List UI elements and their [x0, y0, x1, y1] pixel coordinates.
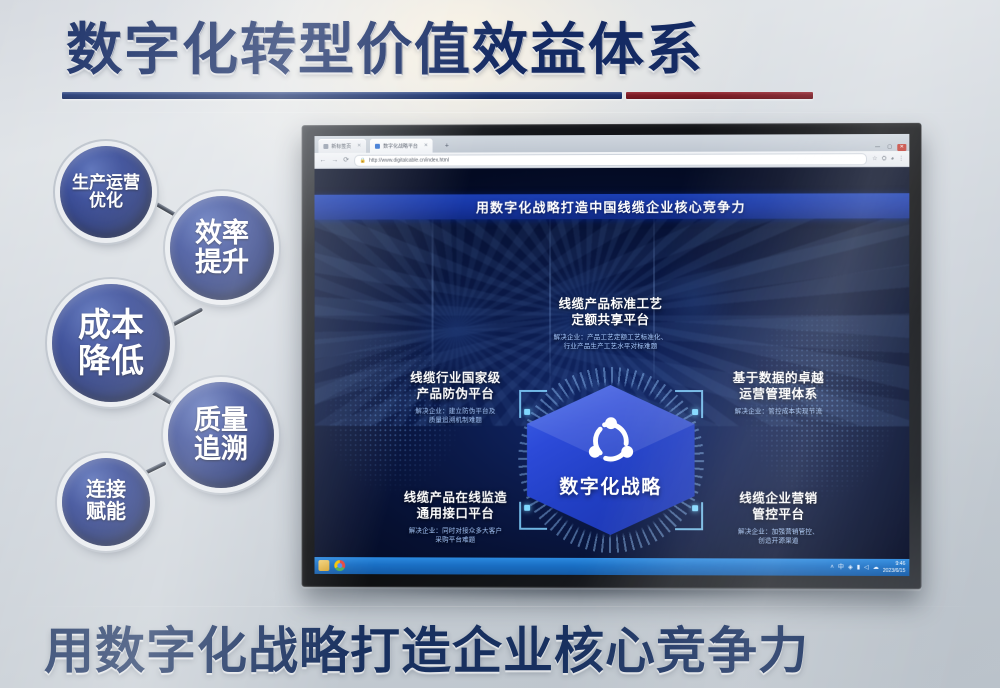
speaker-icon[interactable]: ◁: [864, 564, 869, 570]
slide-banner-title: 用数字化战略打造中国线缆企业核心竞争力: [314, 193, 909, 219]
node-title-line-2: 通用接口平台: [366, 506, 545, 523]
node-subtitle-line-1: 解决企业：加强营销管控、: [688, 527, 869, 537]
wall-seam: [0, 606, 1000, 607]
node-standard-process-platform[interactable]: 线缆产品标准工艺 定额共享平台 解决企业：产品工艺定额工艺标准化、 行业产品生产…: [511, 296, 711, 351]
browser-tab-strip: 新标签页 ✕ 数字化战略平台 ✕ + — ▢ ✕: [314, 134, 909, 153]
wall-seam: [0, 112, 1000, 113]
node-online-supervision-interface[interactable]: 线缆产品在线监造 通用接口平台 解决企业：同时对接众多大客户 采购平台难题: [366, 489, 545, 545]
minimize-button[interactable]: —: [873, 144, 882, 151]
node-subtitle: 解决企业：管控成本实现节流: [688, 407, 869, 417]
chrome-icon[interactable]: [334, 560, 345, 571]
clock-date: 2023/6/15: [883, 567, 905, 573]
node-subtitle-line-1: 解决企业：建立防伪平台及: [366, 406, 545, 416]
ime-icon[interactable]: 中: [838, 564, 844, 570]
bookmark-star-icon[interactable]: ☆: [872, 156, 877, 162]
node-subtitle-line-2: 质量追溯机制难题: [366, 416, 545, 426]
forward-icon[interactable]: →: [331, 157, 338, 164]
taskbar-apps: [318, 560, 345, 571]
windows-taskbar: ˄ 中 ◈ ▮ ◁ ☁ 9:46 2023/6/15: [314, 557, 909, 576]
footer-slogan: 用数字化战略打造企业核心竞争力: [44, 620, 804, 682]
bubble-line-1: 连接: [86, 480, 126, 502]
bubble-efficiency[interactable]: 效率 提升: [170, 196, 274, 300]
toolbar-actions: ☆ ⛭ ◕ ⋮: [872, 156, 904, 162]
wall-monitor: 新标签页 ✕ 数字化战略平台 ✕ + — ▢ ✕: [302, 123, 922, 589]
node-title-line-1: 线缆企业营销: [688, 490, 869, 507]
node-subtitle-line-1: 解决企业：产品工艺定额工艺标准化、: [511, 332, 711, 341]
presentation-slide: 用数字化战略打造中国线缆企业核心竞争力: [314, 167, 909, 576]
node-subtitle-line-2: 行业产品生产工艺水平对标难题: [511, 342, 711, 351]
plus-icon: +: [445, 142, 449, 149]
title-rule-blue: [62, 92, 622, 99]
browser-tab-2[interactable]: 数字化战略平台 ✕: [370, 139, 433, 153]
node-title-line-2: 定额共享平台: [511, 312, 711, 328]
page-title: 数字化转型价值效益体系: [66, 14, 796, 86]
favicon-icon: [375, 143, 380, 148]
monitor-screen: 新标签页 ✕ 数字化战略平台 ✕ + — ▢ ✕: [314, 134, 909, 576]
explorer-icon[interactable]: [318, 560, 329, 571]
lock-icon: 🔒: [360, 157, 366, 163]
node-title-line-1: 基于数据的卓越: [688, 370, 869, 386]
node-title-line-2: 运营管理体系: [688, 386, 869, 402]
node-title-line-2: 管控平台: [688, 506, 869, 523]
back-icon[interactable]: ←: [319, 157, 326, 164]
node-title-line-2: 产品防伪平台: [366, 386, 545, 402]
cloud-icon[interactable]: ☁: [873, 564, 879, 570]
network-icon[interactable]: ▮: [857, 564, 860, 570]
bubble-line-2: 降低: [78, 343, 144, 379]
new-tab-button[interactable]: +: [437, 139, 457, 153]
exhibit-photo: 数字化转型价值效益体系 生产运营 优化 效率 提升 成本 降低 质量 追溯 连接…: [0, 0, 1000, 688]
node-title: 基于数据的卓越 运营管理体系: [688, 370, 869, 403]
profile-avatar-icon[interactable]: ◕: [891, 156, 895, 162]
node-data-driven-operations[interactable]: 基于数据的卓越 运营管理体系 解决企业：管控成本实现节流: [688, 370, 869, 416]
maximize-button[interactable]: ▢: [885, 144, 894, 151]
title-rule-red: [626, 92, 813, 99]
node-title-line-1: 线缆行业国家级: [366, 370, 545, 386]
close-icon[interactable]: ✕: [357, 143, 361, 149]
bubble-cost-reduction[interactable]: 成本 降低: [52, 284, 170, 402]
url-text: http://www.digitalcable.cn/index.html: [369, 157, 449, 163]
browser-tab-1[interactable]: 新标签页 ✕: [318, 139, 366, 153]
tab-title: 数字化战略平台: [383, 142, 418, 149]
bubble-line-1: 成本: [78, 307, 144, 343]
browser-toolbar: ← → ⟳ 🔒 http://www.digitalcable.cn/index…: [314, 151, 909, 169]
node-anti-counterfeit-platform[interactable]: 线缆行业国家级 产品防伪平台 解决企业：建立防伪平台及 质量追溯机制难题: [366, 370, 545, 425]
address-bar[interactable]: 🔒 http://www.digitalcable.cn/index.html: [354, 153, 867, 167]
bubble-line-2: 赋能: [86, 502, 126, 524]
bubble-line-2: 追溯: [194, 435, 248, 464]
node-title-line-1: 线缆产品标准工艺: [511, 296, 711, 312]
shield-icon[interactable]: ◈: [848, 564, 853, 570]
favicon-icon: [323, 143, 328, 148]
chrome-menu-icon[interactable]: ⋮: [898, 156, 904, 162]
system-tray: ˄ 中 ◈ ▮ ◁ ☁ 9:46 2023/6/15: [830, 561, 905, 574]
extensions-icon[interactable]: ⛭: [882, 156, 887, 162]
node-subtitle: 解决企业：建立防伪平台及 质量追溯机制难题: [366, 406, 545, 425]
close-window-button[interactable]: ✕: [897, 144, 906, 151]
bubble-line-1: 效率: [195, 219, 249, 248]
node-title-line-1: 线缆产品在线监造: [366, 489, 545, 506]
node-subtitle-line-1: 解决企业：管控成本实现节流: [688, 407, 869, 417]
node-title: 线缆产品在线监造 通用接口平台: [366, 489, 545, 522]
node-title: 线缆企业营销 管控平台: [688, 490, 869, 523]
node-subtitle: 解决企业：同时对接众多大客户 采购平台难题: [366, 526, 545, 545]
share-network-icon: [584, 414, 638, 468]
bubble-quality-traceability[interactable]: 质量 追溯: [168, 382, 274, 488]
node-subtitle: 解决企业：加强营销管控、 创造开源渠道: [688, 527, 869, 546]
node-title: 线缆产品标准工艺 定额共享平台: [511, 296, 711, 329]
node-subtitle-line-2: 采购平台难题: [366, 535, 545, 545]
bubble-line-2: 优化: [89, 192, 123, 210]
reload-icon[interactable]: ⟳: [343, 157, 349, 164]
bubble-production-operations[interactable]: 生产运营 优化: [60, 146, 152, 238]
node-title: 线缆行业国家级 产品防伪平台: [366, 370, 545, 403]
value-bubble-cluster: 生产运营 优化 效率 提升 成本 降低 质量 追溯 连接 赋能: [48, 138, 288, 558]
node-subtitle-line-1: 解决企业：同时对接众多大客户: [366, 526, 545, 536]
tab-title: 新标签页: [331, 142, 351, 149]
node-marketing-control-platform[interactable]: 线缆企业营销 管控平台 解决企业：加强营销管控、 创造开源渠道: [688, 490, 869, 546]
bubble-line-1: 质量: [194, 406, 248, 435]
bubble-connectivity[interactable]: 连接 赋能: [62, 458, 150, 546]
bubble-line-2: 提升: [195, 248, 249, 277]
chevron-up-icon[interactable]: ˄: [830, 564, 834, 570]
close-icon[interactable]: ✕: [424, 143, 428, 149]
taskbar-spacer: [345, 566, 830, 568]
node-subtitle-line-2: 创造开源渠道: [688, 536, 869, 546]
node-subtitle: 解决企业：产品工艺定额工艺标准化、 行业产品生产工艺水平对标难题: [511, 332, 711, 351]
taskbar-clock[interactable]: 9:46 2023/6/15: [883, 561, 905, 574]
bubble-line-1: 生产运营: [72, 174, 140, 192]
